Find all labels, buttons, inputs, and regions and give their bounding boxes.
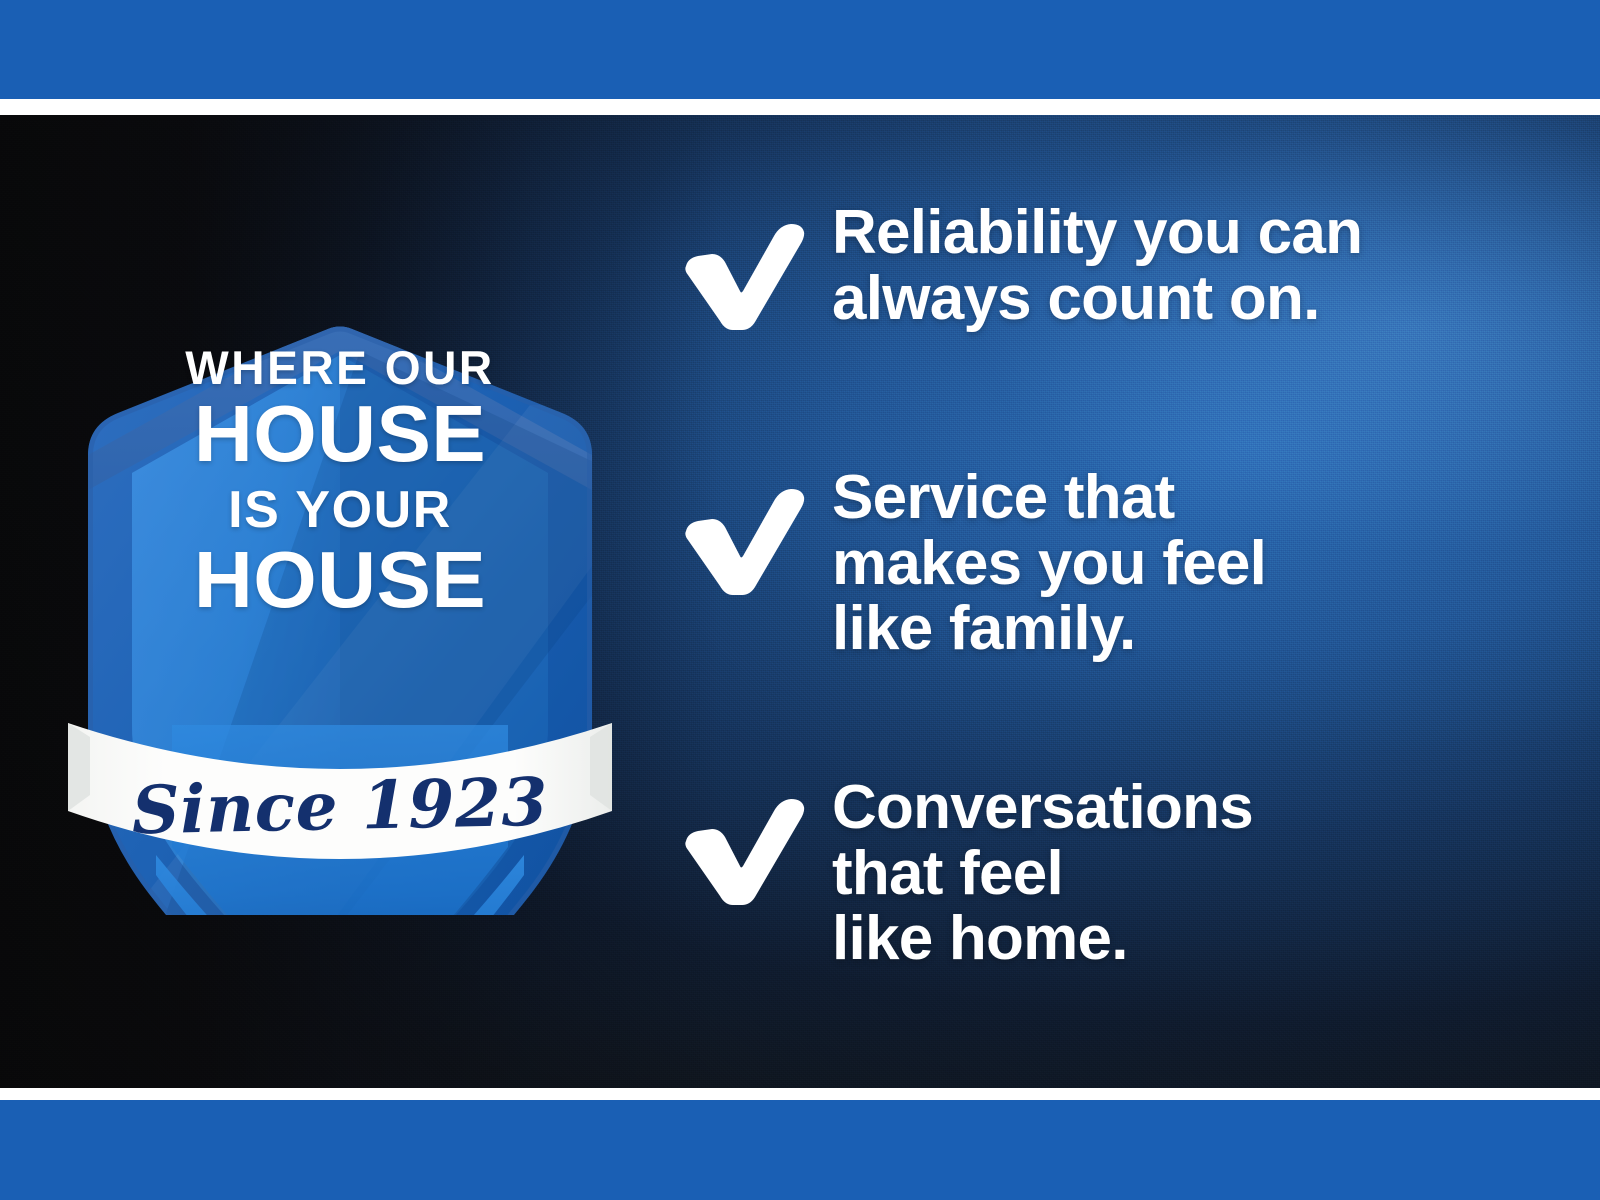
badge-ribbon-since-1923: Since 1923: [59, 761, 621, 851]
top-brand-bar: [0, 0, 1600, 99]
benefit-text: Service that makes you feel like family.: [832, 465, 1532, 662]
badge-line-is-your: IS YOUR: [60, 484, 620, 536]
benefit-text: Conversations that feel like home.: [832, 775, 1532, 972]
badge-line-house-2: HOUSE: [54, 540, 625, 620]
benefit-text-line: Conversations: [832, 775, 1532, 841]
benefit-text-line: like home.: [832, 906, 1532, 972]
benefit-text-line: makes you feel: [832, 531, 1532, 597]
bottom-brand-bar: [0, 1100, 1600, 1200]
benefit-text-line: always count on.: [832, 266, 1532, 332]
poster-stage: WHERE OUR HOUSE IS YOUR HOUSE Since 1923…: [0, 115, 1600, 1088]
badge-line-where-our: WHERE OUR: [66, 344, 615, 391]
benefit-text-line: Service that: [832, 465, 1532, 531]
benefit-text-line: that feel: [832, 841, 1532, 907]
check-icon: [678, 793, 808, 908]
shield-badge: WHERE OUR HOUSE IS YOUR HOUSE Since 1923: [60, 255, 620, 915]
benefit-text: Reliability you can always count on.: [832, 200, 1532, 331]
promo-poster: WHERE OUR HOUSE IS YOUR HOUSE Since 1923…: [0, 0, 1600, 1200]
badge-line-house-1: HOUSE: [54, 394, 625, 474]
check-icon: [678, 218, 808, 333]
check-icon: [678, 483, 808, 598]
benefit-text-line: Reliability you can: [832, 200, 1532, 266]
benefit-text-line: like family.: [832, 596, 1532, 662]
